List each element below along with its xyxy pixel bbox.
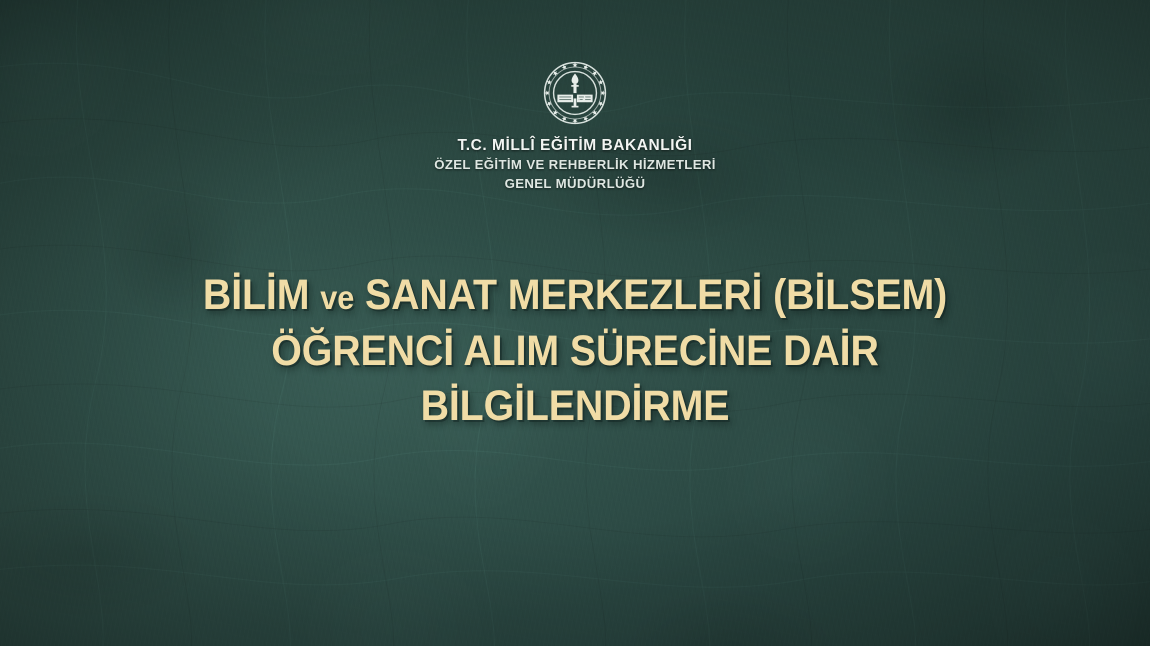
title-conjunction: ve xyxy=(320,280,354,317)
title-line-3: BİLGİLENDİRME xyxy=(49,382,1101,430)
page-title: BİLİM ve SANAT MERKEZLERİ (BİLSEM) ÖĞREN… xyxy=(0,271,1150,429)
title-line-1-part-2: SANAT MERKEZLERİ (BİLSEM) xyxy=(365,271,947,319)
presentation-slide: T.C. MİLLÎ EĞİTİM BAKANLIĞI ÖZEL EĞİTİM … xyxy=(0,0,1150,646)
directorate-name-line-1: ÖZEL EĞİTİM VE REHBERLİK HİZMETLERİ xyxy=(0,156,1150,175)
meb-logo-icon xyxy=(543,61,607,125)
directorate-name-line-2: GENEL MÜDÜRLÜĞÜ xyxy=(0,175,1150,194)
title-line-1: BİLİM ve SANAT MERKEZLERİ (BİLSEM) xyxy=(49,271,1101,319)
ministry-name: T.C. MİLLÎ EĞİTİM BAKANLIĞI xyxy=(0,136,1150,156)
title-line-2: ÖĞRENCİ ALIM SÜRECİNE DAİR xyxy=(49,327,1101,375)
slide-content: T.C. MİLLÎ EĞİTİM BAKANLIĞI ÖZEL EĞİTİM … xyxy=(0,0,1150,646)
title-line-1-part-1: BİLİM xyxy=(203,271,310,319)
ministry-header: T.C. MİLLÎ EĞİTİM BAKANLIĞI ÖZEL EĞİTİM … xyxy=(0,136,1150,194)
